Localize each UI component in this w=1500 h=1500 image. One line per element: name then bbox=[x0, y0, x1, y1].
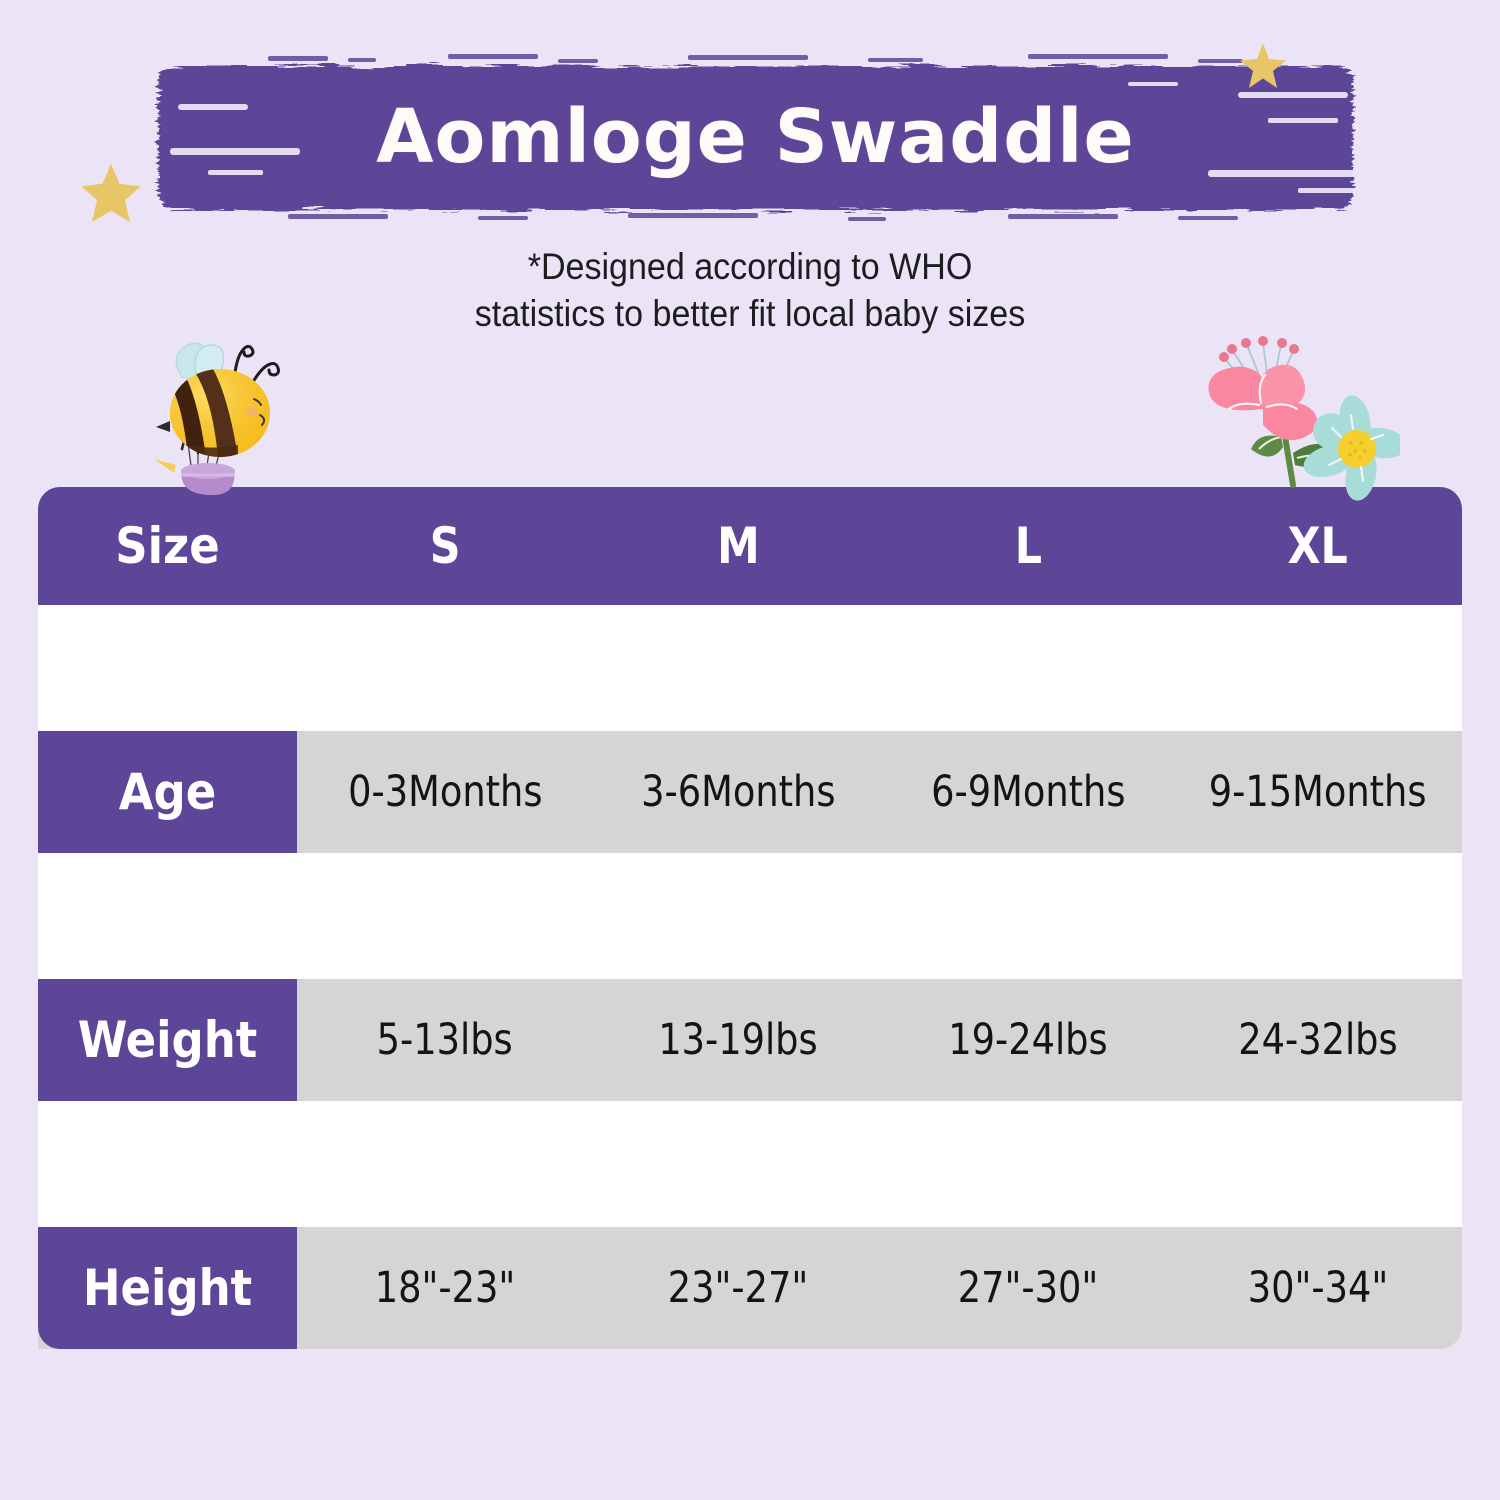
cell-age-xl: 9-15Months bbox=[1173, 731, 1462, 853]
table-spacer-row-1 bbox=[38, 605, 1462, 731]
star-icon bbox=[78, 160, 144, 226]
table-row-weight: Weight 5-13lbs 13-19lbs 19-24lbs 24-32lb… bbox=[38, 979, 1462, 1101]
subtitle: *Designed according to WHO statistics to… bbox=[60, 243, 1440, 338]
page-title: Aomloge Swaddle bbox=[148, 52, 1363, 222]
cell-height-xl: 30"-34" bbox=[1173, 1227, 1462, 1349]
subtitle-line-1: *Designed according to WHO bbox=[60, 243, 1440, 290]
cell-weight-s: 5-13lbs bbox=[297, 979, 593, 1101]
flowers-icon bbox=[1185, 325, 1400, 510]
size-chart-page: Aomloge Swaddle *Designed according to W… bbox=[0, 0, 1500, 1500]
bee-icon bbox=[130, 325, 305, 510]
cell-weight-m: 13-19lbs bbox=[593, 979, 883, 1101]
cell-age-m: 3-6Months bbox=[593, 731, 883, 853]
cell-age-l: 6-9Months bbox=[883, 731, 1173, 853]
row-label-age: Age bbox=[38, 731, 297, 853]
title-banner: Aomloge Swaddle bbox=[148, 52, 1363, 222]
table-header-m: M bbox=[593, 487, 883, 605]
cell-weight-l: 19-24lbs bbox=[883, 979, 1173, 1101]
cell-height-s: 18"-23" bbox=[297, 1227, 593, 1349]
cell-height-m: 23"-27" bbox=[593, 1227, 883, 1349]
table-row-age: Age 0-3Months 3-6Months 6-9Months 9-15Mo… bbox=[38, 731, 1462, 853]
row-label-weight: Weight bbox=[38, 979, 297, 1101]
table-spacer-row-3 bbox=[38, 1101, 1462, 1227]
cell-weight-xl: 24-32lbs bbox=[1173, 979, 1462, 1101]
size-chart-table: Size S M L XL Age 0-3Months 3 bbox=[38, 487, 1462, 1349]
table-spacer-row-2 bbox=[38, 853, 1462, 979]
table-row-height: Height 18"-23" 23"-27" 27"-30" 30"-34" bbox=[38, 1227, 1462, 1349]
cell-height-l: 27"-30" bbox=[883, 1227, 1173, 1349]
cell-age-s: 0-3Months bbox=[297, 731, 593, 853]
table-header-l: L bbox=[883, 487, 1173, 605]
row-label-height: Height bbox=[38, 1227, 297, 1349]
table-header-s: S bbox=[297, 487, 593, 605]
